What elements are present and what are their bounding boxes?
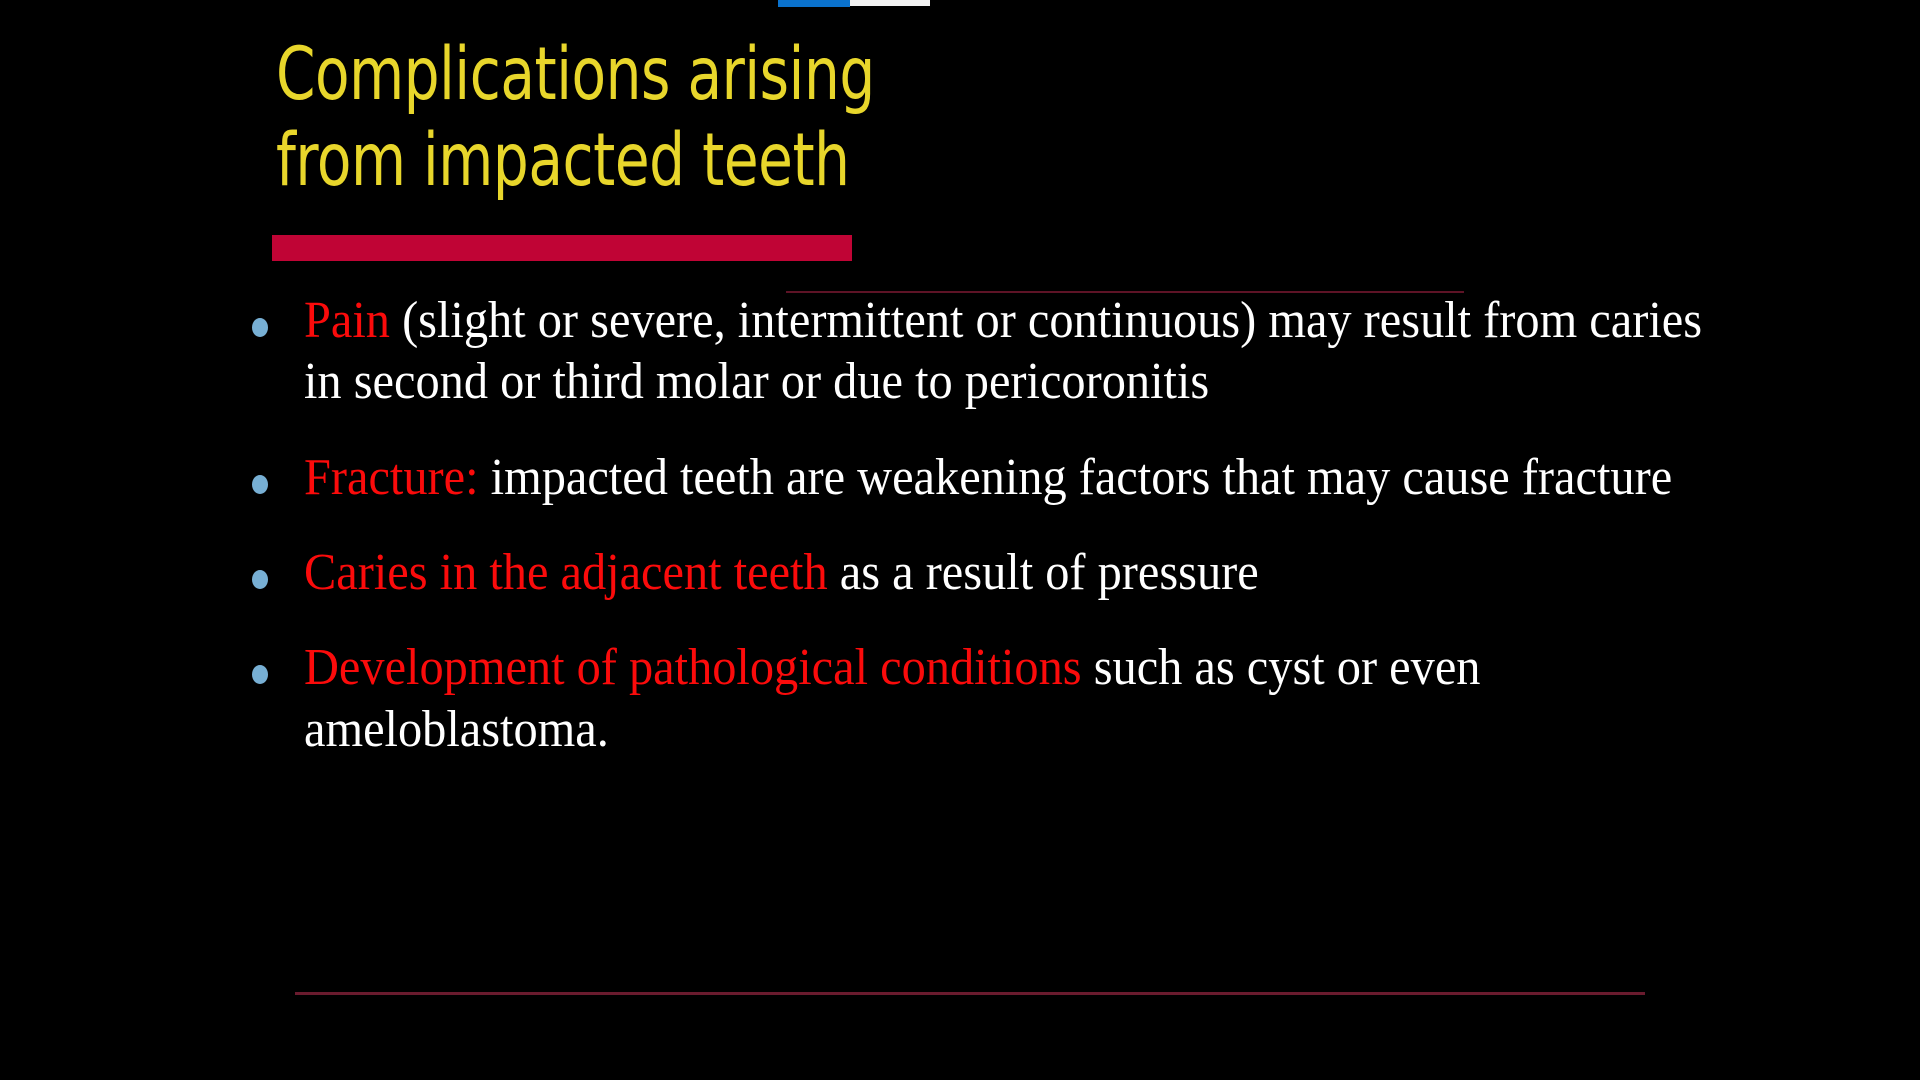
bullet-body: impacted teeth are weakening factors tha…	[479, 449, 1673, 506]
bullet-keyword: Fracture:	[304, 449, 479, 506]
bullet-dot-icon	[252, 318, 268, 337]
bullet-keyword: Pain	[304, 292, 390, 349]
top-strip-white-segment	[850, 0, 930, 6]
bullet-keyword: Development of pathological conditions	[304, 639, 1082, 696]
bullet-list: Pain (slight or severe, intermittent or …	[232, 290, 1652, 794]
list-item: Development of pathological conditions s…	[232, 637, 1652, 760]
list-item: Caries in the adjacent teeth as a result…	[232, 542, 1652, 603]
bullet-text: Fracture: impacted teeth are weakening f…	[304, 447, 1718, 508]
slide-title: Complications arising from impacted teet…	[276, 32, 1176, 204]
bullet-body: (slight or severe, intermittent or conti…	[304, 292, 1702, 410]
presentation-slide: Complications arising from impacted teet…	[0, 0, 1920, 1080]
top-decorative-strip	[778, 0, 930, 7]
list-item: Fracture: impacted teeth are weakening f…	[232, 447, 1652, 508]
bullet-dot-icon	[252, 665, 268, 684]
top-strip-blue-segment	[778, 0, 850, 7]
bullet-keyword: Caries in the adjacent teeth	[304, 544, 828, 601]
slide-title-line-2: from impacted teeth	[276, 118, 1050, 204]
bullet-body: as a result of pressure	[828, 544, 1259, 601]
bullet-text: Development of pathological conditions s…	[304, 637, 1718, 760]
bullet-dot-icon	[252, 570, 268, 589]
bullet-text: Caries in the adjacent teeth as a result…	[304, 542, 1718, 603]
bullet-text: Pain (slight or severe, intermittent or …	[304, 290, 1718, 413]
slide-title-line-1: Complications arising	[276, 32, 1050, 118]
bullet-dot-icon	[252, 475, 268, 494]
title-accent-bar	[272, 235, 852, 261]
lower-horizontal-rule	[295, 992, 1645, 995]
list-item: Pain (slight or severe, intermittent or …	[232, 290, 1652, 413]
